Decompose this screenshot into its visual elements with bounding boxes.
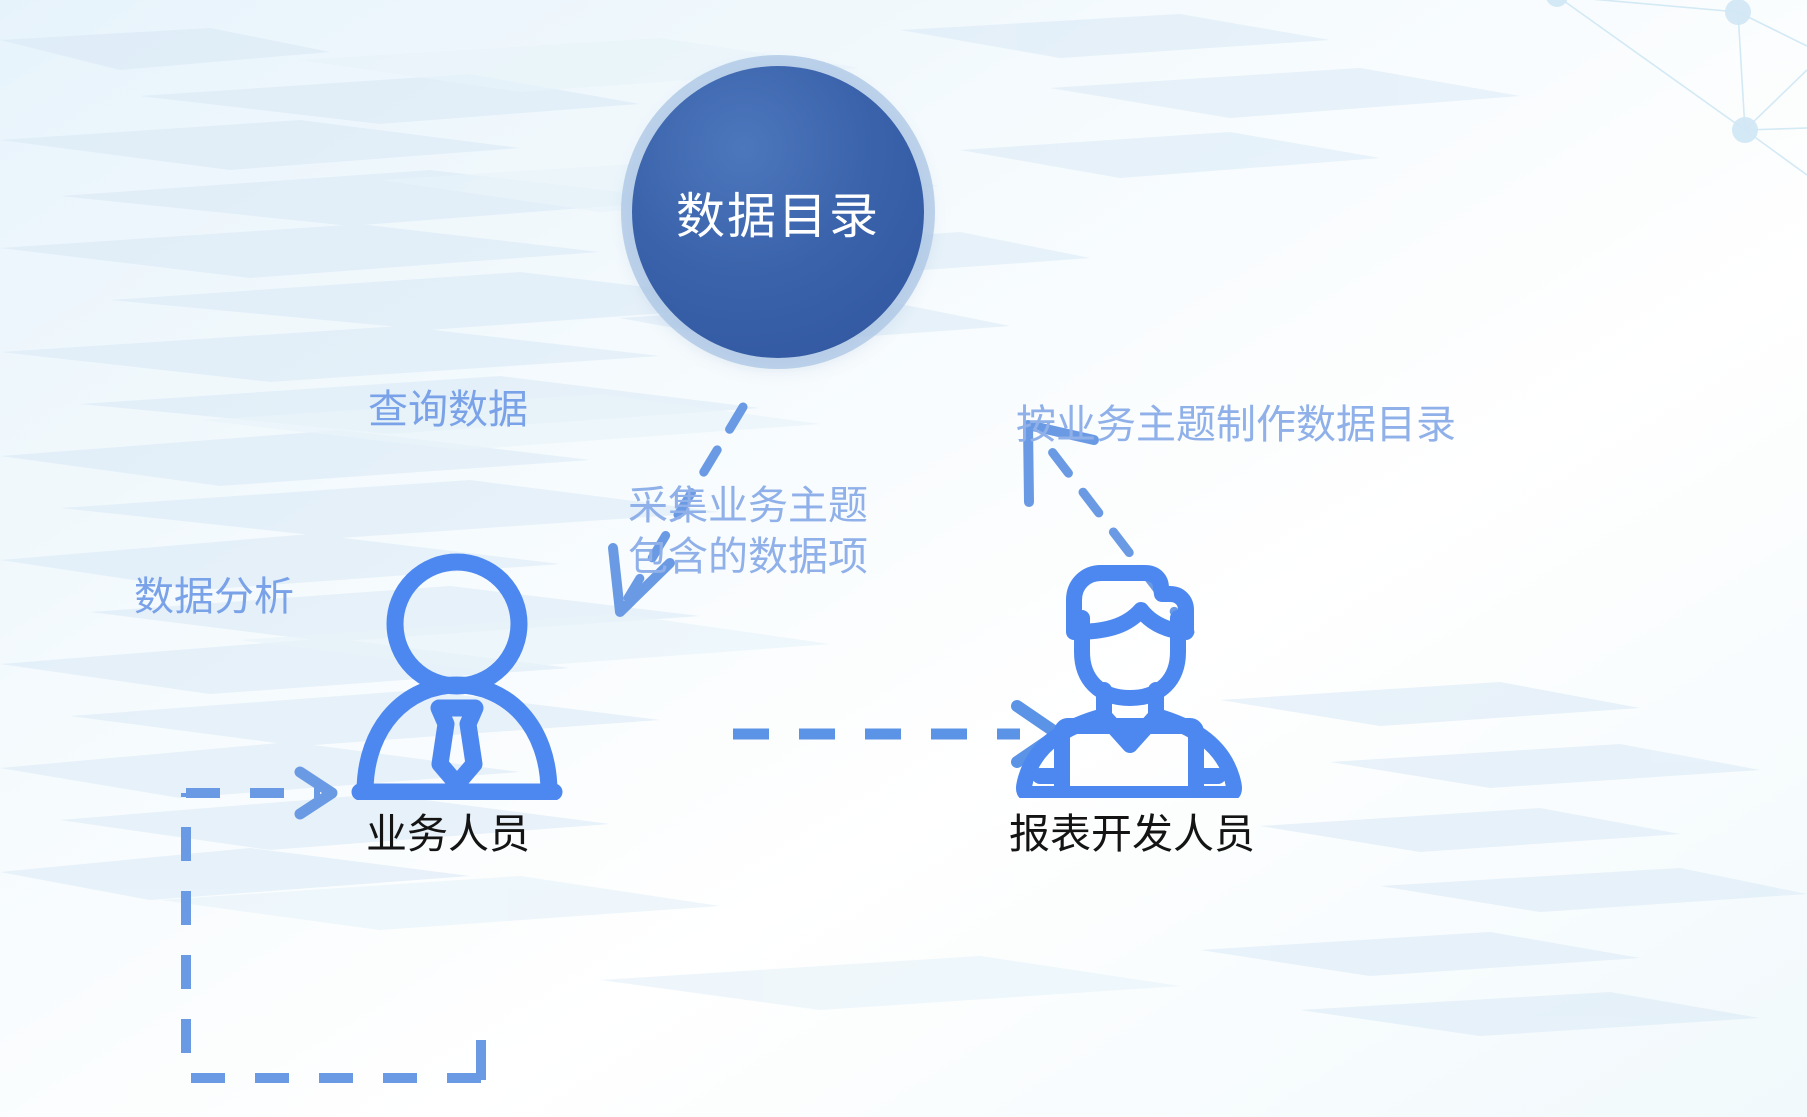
diagram-canvas: 数据目录 — [0, 0, 1807, 1117]
edge-label-collect-line2: 包含的数据项 — [628, 532, 868, 583]
developer-with-laptop-icon[interactable] — [1000, 540, 1258, 798]
actor-label-business-person: 业务人员 — [366, 800, 530, 860]
person-with-tie-icon[interactable] — [338, 552, 576, 800]
data-catalog-label: 数据目录 — [676, 177, 880, 248]
edge-label-data-analysis: 数据分析 — [134, 572, 294, 623]
edge-label-build-catalog: 按业务主题制作数据目录 — [1016, 400, 1456, 451]
actor-label-report-developer: 报表开发人员 — [1009, 800, 1255, 860]
edge-label-collect-data-items: 采集业务主题 包含的数据项 — [628, 481, 868, 583]
edge-label-collect-line1: 采集业务主题 — [628, 481, 868, 532]
edge-label-query-data: 查询数据 — [368, 385, 528, 436]
data-catalog-node[interactable]: 数据目录 — [632, 66, 924, 358]
